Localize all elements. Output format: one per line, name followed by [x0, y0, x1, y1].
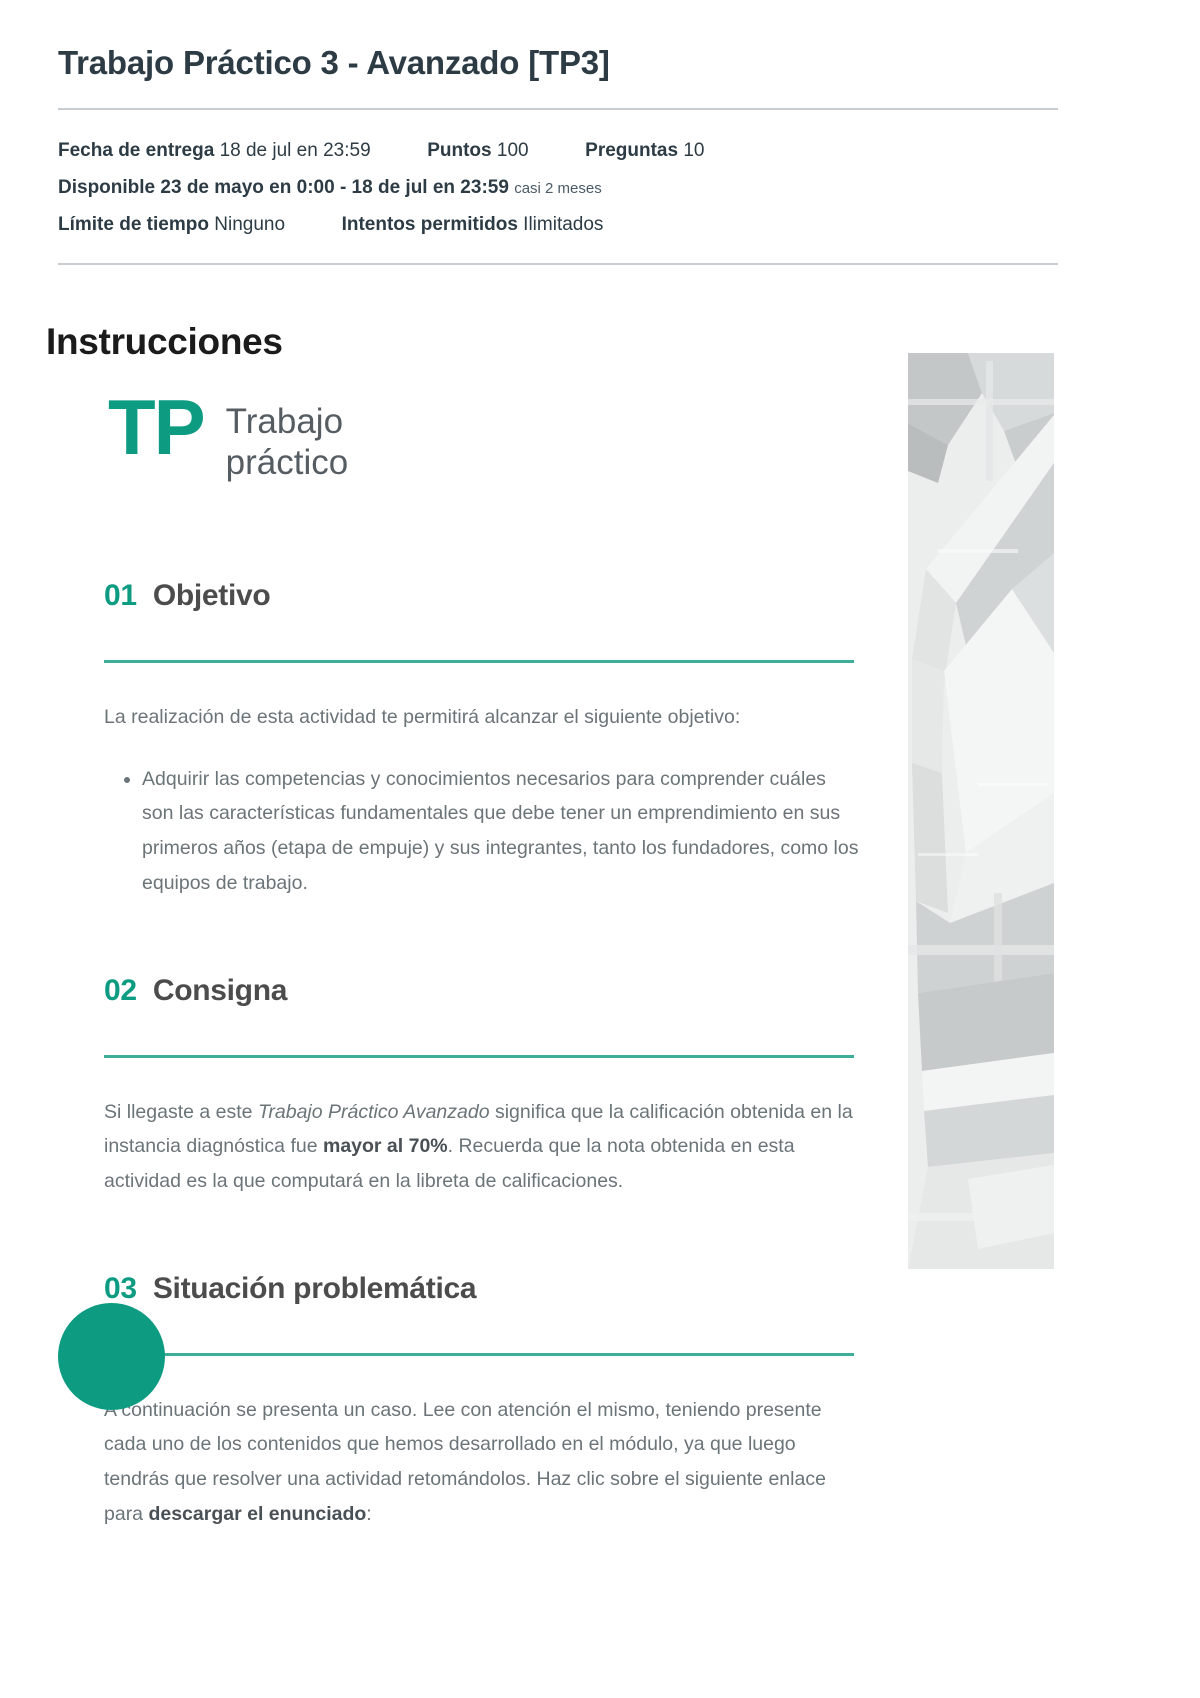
time-limit-value: Ninguno	[214, 214, 285, 235]
points-value: 100	[497, 140, 529, 161]
section-situacion-problematica: 03 Situación problemática A continuación…	[104, 1271, 860, 1532]
section-gap	[104, 911, 860, 973]
section-content: La realización de esta actividad te perm…	[104, 700, 860, 901]
consigna-text-a: Si llegaste a este	[104, 1101, 258, 1123]
instructions-content: TP Trabajo práctico 01 Objetivo La reali…	[104, 392, 860, 1541]
available-value: 23 de mayo en 0:00 - 18 de jul en 23:59	[160, 177, 509, 198]
objetivo-intro: La realización de esta actividad te perm…	[104, 700, 860, 735]
divider-bottom	[58, 263, 1058, 265]
available-duration: casi 2 meses	[514, 180, 602, 197]
tp-logo-line2: práctico	[226, 443, 349, 482]
tp-logo-words: Trabajo práctico	[226, 402, 349, 483]
due-date-value: 18 de jul en 23:59	[220, 140, 371, 161]
available-label: Disponible	[58, 177, 155, 198]
section-title: Consigna	[153, 974, 287, 1007]
section-gap	[104, 1209, 860, 1271]
section-heading: 01 Objetivo	[104, 578, 860, 614]
section-title: Objetivo	[153, 579, 271, 612]
tp-monogram: TP	[108, 392, 204, 464]
teal-circle-accent	[58, 1303, 165, 1410]
page-title: Trabajo Práctico 3 - Avanzado [TP3]	[58, 44, 1058, 82]
consigna-paragraph: Si llegaste a este Trabajo Práctico Avan…	[104, 1095, 860, 1199]
meta-row-due: Fecha de entrega 18 de jul en 23:59 Punt…	[58, 132, 1058, 169]
section-rule	[104, 660, 854, 663]
quiz-meta-block: Fecha de entrega 18 de jul en 23:59 Punt…	[58, 110, 1058, 263]
consigna-emphasis: Trabajo Práctico Avanzado	[258, 1101, 490, 1123]
section-heading: 02 Consigna	[104, 973, 860, 1009]
questions-label: Preguntas	[585, 140, 678, 161]
tp-logo-line1: Trabajo	[226, 402, 343, 441]
section-heading: 03 Situación problemática	[104, 1271, 860, 1307]
consigna-strong: mayor al 70%	[323, 1135, 448, 1157]
section-consigna: 02 Consigna Si llegaste a este Trabajo P…	[104, 973, 860, 1199]
attempts-label: Intentos permitidos	[342, 214, 518, 235]
attempts-value: Ilimitados	[523, 214, 603, 235]
abstract-geometric-grayscale-photo	[908, 353, 1054, 1269]
situacion-strong: descargar el enunciado	[148, 1503, 366, 1525]
time-limit-label: Límite de tiempo	[58, 214, 209, 235]
situacion-paragraph: A continuación se presenta un caso. Lee …	[104, 1393, 860, 1532]
objetivo-list: Adquirir las competencias y conocimiento…	[104, 762, 860, 901]
situacion-text-b: :	[366, 1503, 371, 1525]
quiz-header: Trabajo Práctico 3 - Avanzado [TP3] Fech…	[58, 44, 1058, 265]
section-content: A continuación se presenta un caso. Lee …	[104, 1393, 860, 1532]
section-rule	[104, 1055, 854, 1058]
tp-logo: TP Trabajo práctico	[108, 392, 860, 496]
section-number: 02	[104, 974, 137, 1007]
due-date-label: Fecha de entrega	[58, 140, 214, 161]
instructions-heading: Instrucciones	[46, 321, 283, 363]
list-item: Adquirir las competencias y conocimiento…	[142, 762, 860, 901]
points-label: Puntos	[427, 140, 491, 161]
section-title: Situación problemática	[153, 1272, 476, 1305]
questions-value: 10	[683, 140, 704, 161]
section-objetivo: 01 Objetivo La realización de esta activ…	[104, 578, 860, 901]
section-number: 01	[104, 579, 137, 612]
section-rule	[104, 1353, 854, 1356]
meta-row-available: Disponible 23 de mayo en 0:00 - 18 de ju…	[58, 169, 1058, 206]
section-number: 03	[104, 1272, 137, 1305]
meta-row-limits: Límite de tiempo Ninguno Intentos permit…	[58, 206, 1058, 243]
section-content: Si llegaste a este Trabajo Práctico Avan…	[104, 1095, 860, 1199]
